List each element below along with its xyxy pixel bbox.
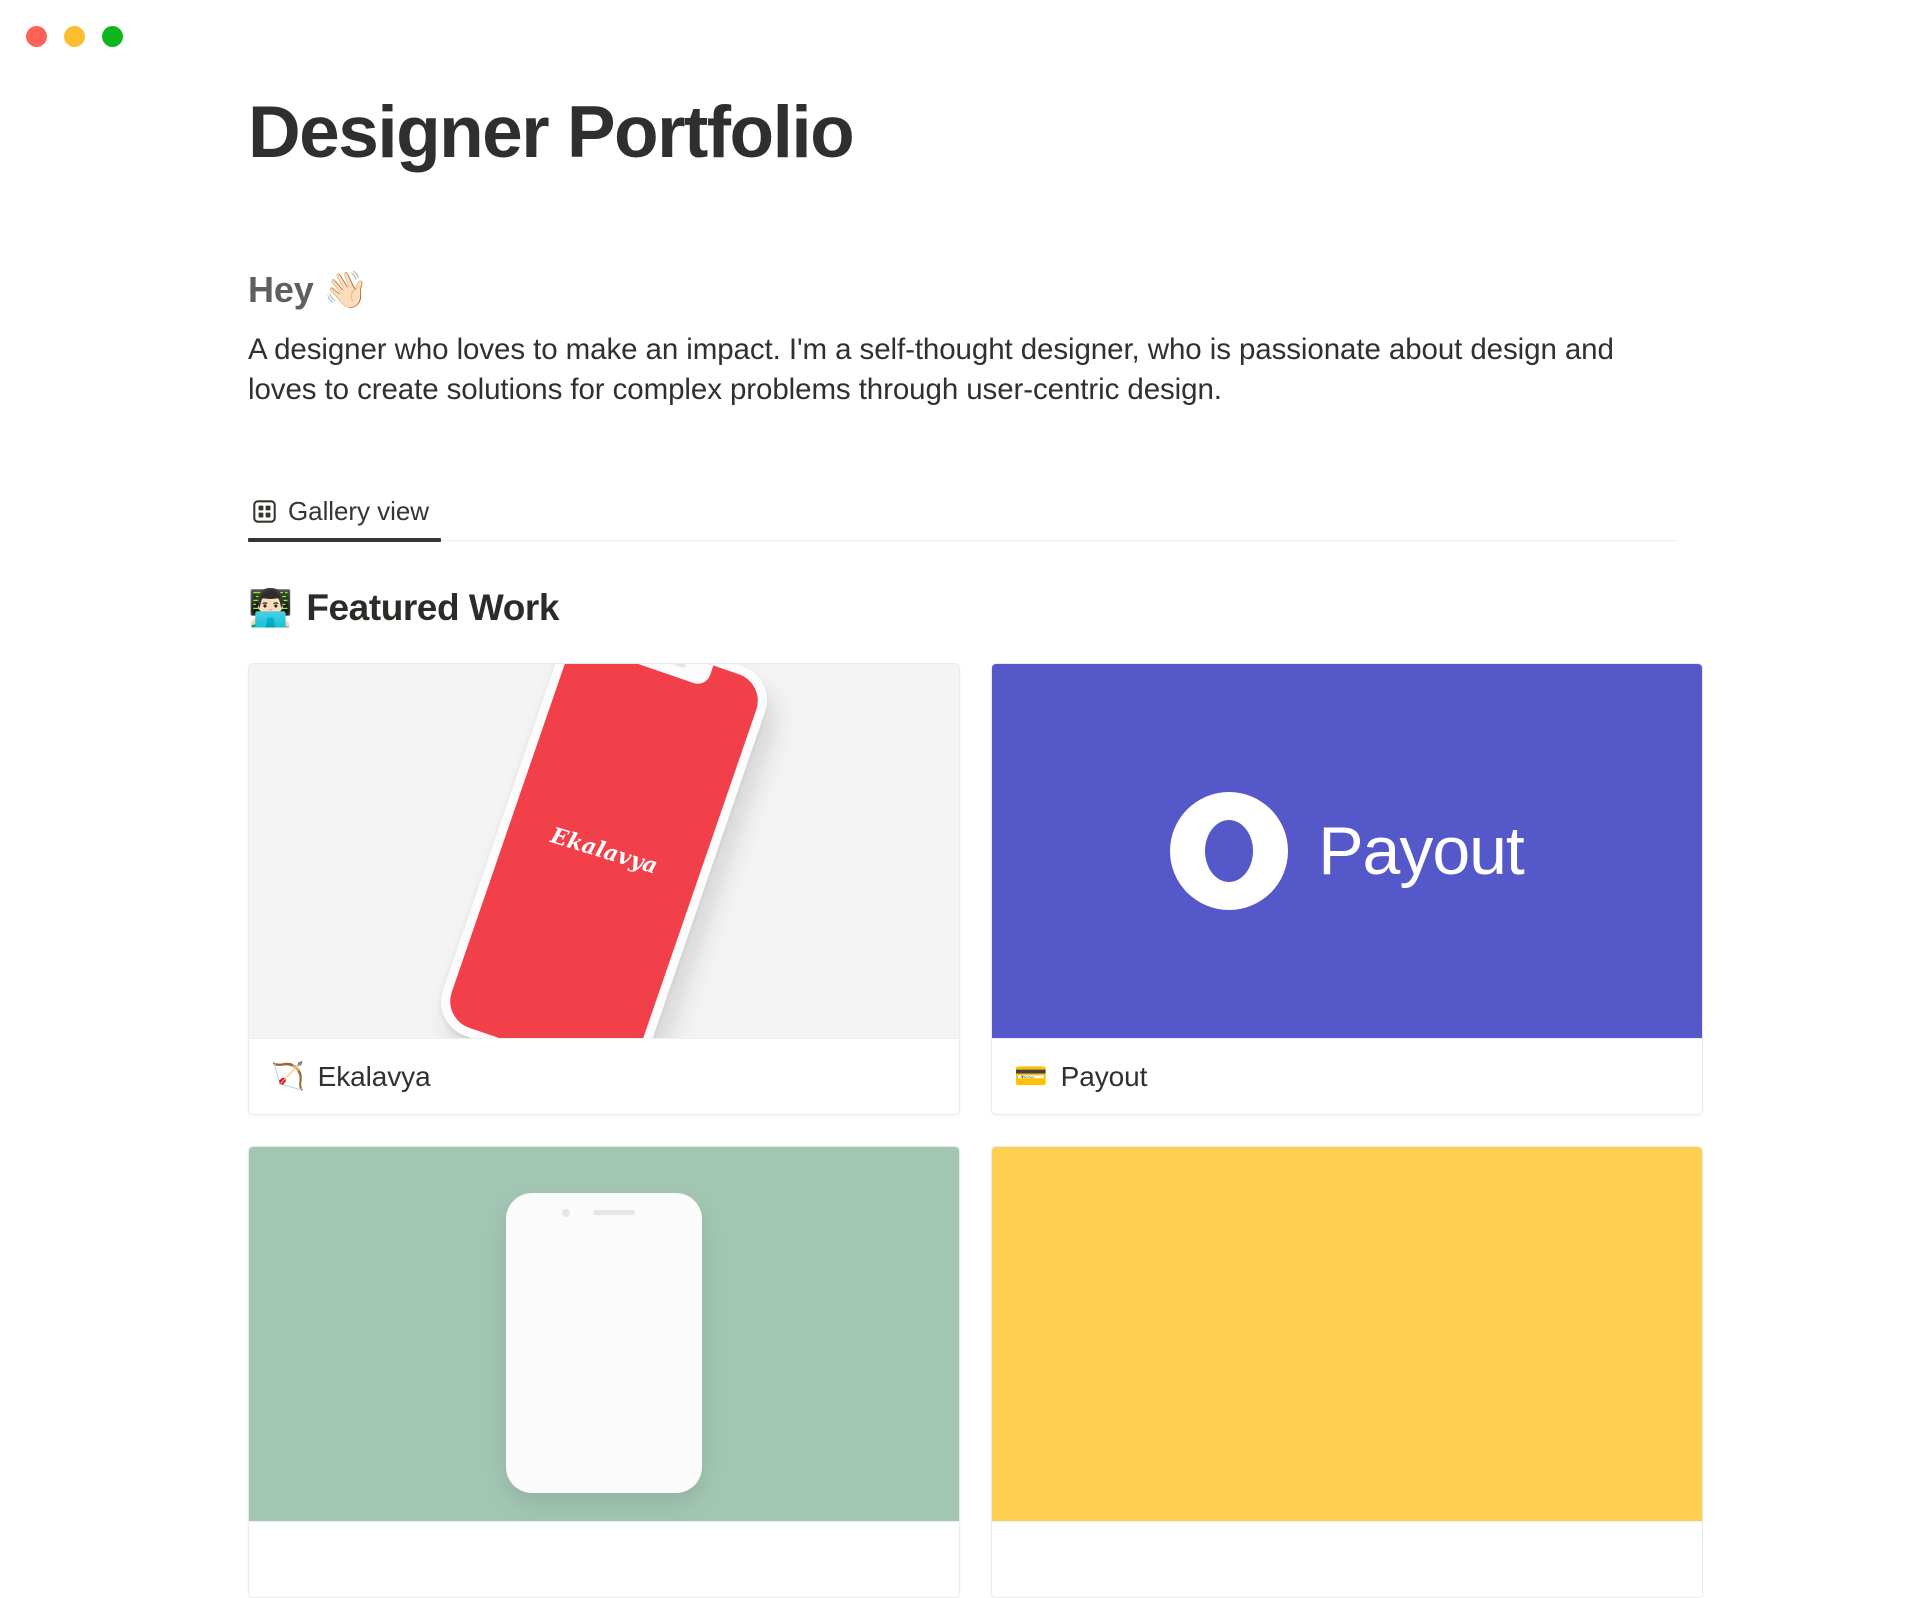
card-media-green (249, 1147, 959, 1521)
intro-paragraph: A designer who loves to make an impact. … (248, 330, 1643, 410)
bow-and-arrow-icon: 🏹 (271, 1063, 305, 1090)
phone-mockup (506, 1193, 702, 1493)
project-card-fourth[interactable] (991, 1146, 1703, 1598)
page-title: Designer Portfolio (248, 96, 1720, 169)
card-title-ekalavya: Ekalavya (318, 1061, 431, 1093)
payout-wordmark: Payout (1318, 812, 1524, 890)
project-card-payout[interactable]: Payout 💳 Payout (991, 663, 1703, 1115)
technologist-icon: 👨🏻‍💻 (248, 587, 292, 629)
greeting-text: Hey (248, 269, 314, 310)
minimize-window-button[interactable] (64, 26, 85, 47)
card-footer-payout: 💳 Payout (992, 1038, 1702, 1114)
card-title-payout: Payout (1061, 1061, 1148, 1093)
card-footer-ekalavya: 🏹 Ekalavya (249, 1038, 959, 1114)
payout-ring-hole (1205, 820, 1253, 882)
gallery-grid-icon (252, 499, 277, 524)
waving-hand-icon: 👋🏻 (323, 269, 368, 310)
card-footer-fourth (992, 1521, 1702, 1597)
section-heading: 👨🏻‍💻 Featured Work (248, 587, 1720, 629)
greeting-heading: Hey 👋🏻 (248, 267, 1720, 312)
project-card-grid: Ekalavya 🏹 Ekalavya Payout 💳 Payout (248, 663, 1703, 1598)
portfolio-page: Designer Portfolio Hey 👋🏻 A designer who… (0, 0, 1920, 1200)
card-media-payout: Payout (992, 664, 1702, 1038)
project-card-third[interactable] (248, 1146, 960, 1598)
phone-body: Ekalavya (431, 664, 777, 1038)
phone-mockup: Ekalavya (431, 664, 777, 1038)
phone-speaker (653, 664, 686, 668)
tab-gallery-view[interactable]: Gallery view (248, 496, 441, 540)
credit-card-icon: 💳 (1014, 1063, 1048, 1090)
view-tab-bar: Gallery view (248, 496, 1678, 541)
phone-screen-brand-text: Ekalavya (547, 823, 660, 880)
phone-speaker (593, 1210, 635, 1215)
card-footer-third (249, 1521, 959, 1597)
payout-ring-logo-icon (1170, 792, 1288, 910)
maximize-window-button[interactable] (102, 26, 123, 47)
window-traffic-lights (26, 26, 123, 47)
section-heading-label: Featured Work (306, 587, 559, 629)
tab-gallery-view-label: Gallery view (288, 496, 429, 527)
phone-screen: Ekalavya (443, 664, 766, 1038)
project-card-ekalavya[interactable]: Ekalavya 🏹 Ekalavya (248, 663, 960, 1115)
close-window-button[interactable] (26, 26, 47, 47)
phone-notch (625, 664, 714, 687)
card-media-ekalavya: Ekalavya (249, 664, 959, 1038)
card-media-yellow (992, 1147, 1702, 1521)
phone-camera (562, 1209, 570, 1217)
